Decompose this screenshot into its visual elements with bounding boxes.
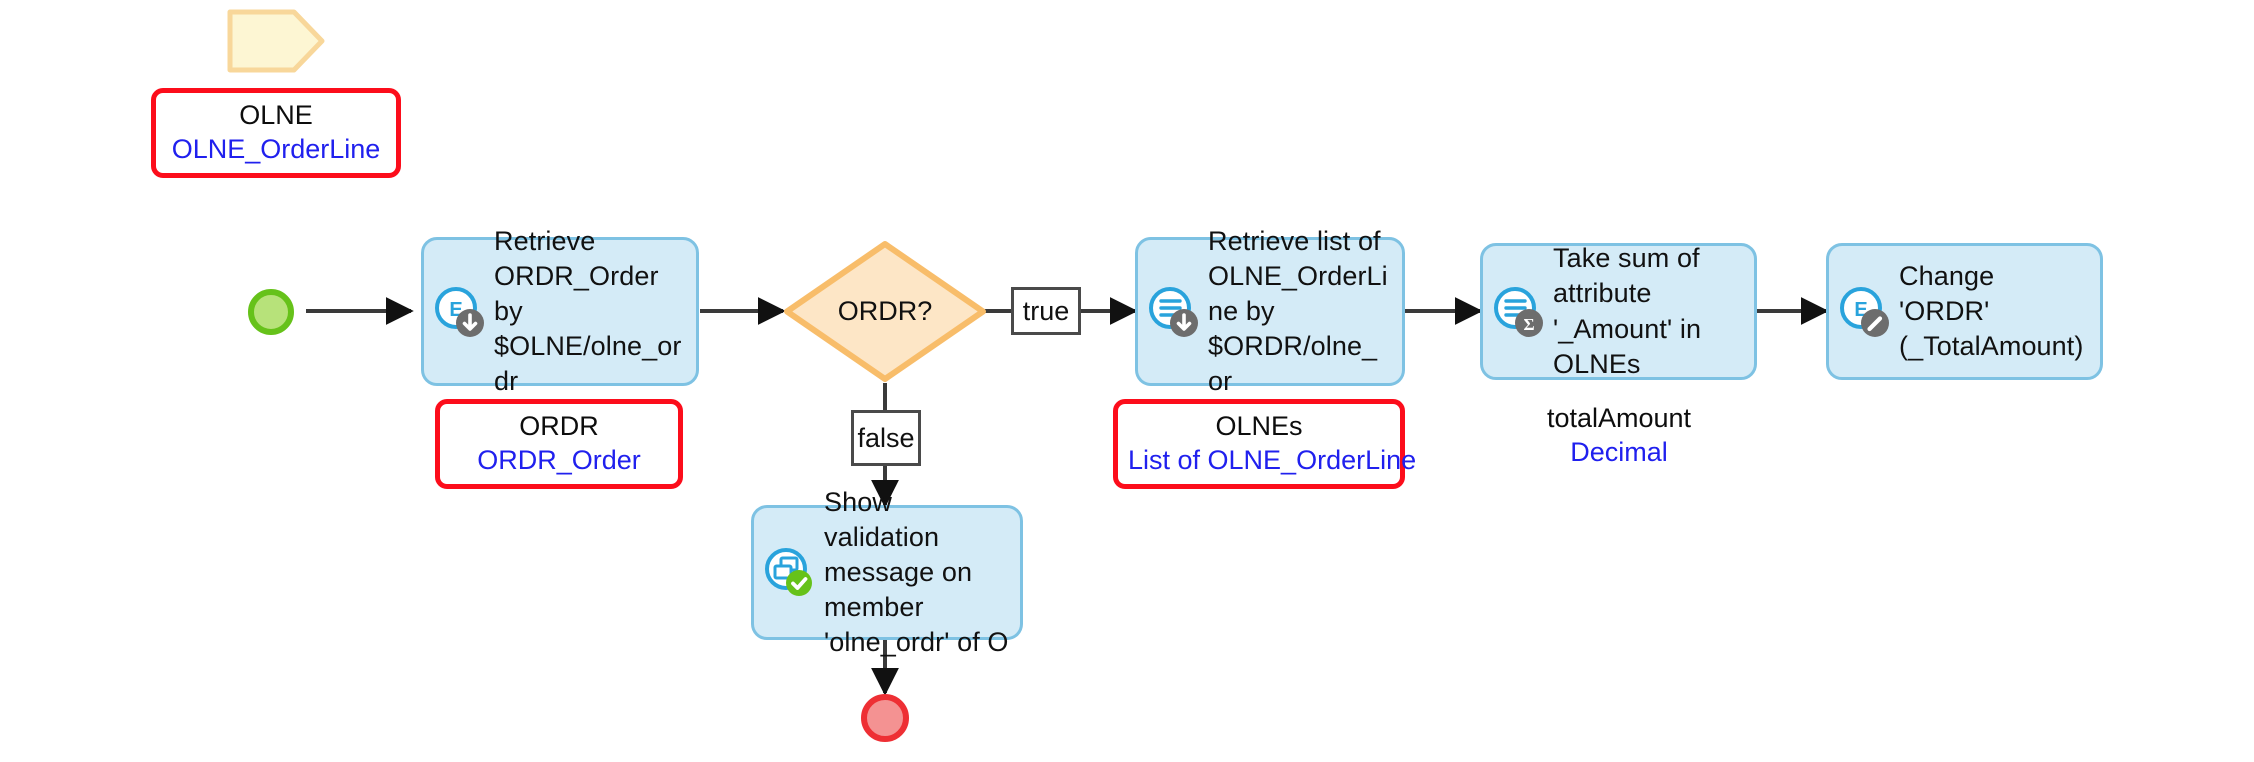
activity-caption: Show validation message on member 'olne_… bbox=[822, 485, 1010, 660]
flow-label-false[interactable]: false bbox=[851, 410, 921, 466]
activity-caption: Retrieve ORDR_Order by $OLNE/olne_ordr bbox=[492, 224, 686, 399]
output-variable-type: Decimal bbox=[1500, 436, 1738, 470]
microflow-canvas[interactable]: OLNE OLNE_OrderLine E Retrieve ORDR_Orde… bbox=[0, 0, 2254, 762]
activity-output-olnes[interactable]: OLNEs List of OLNE_OrderLine bbox=[1113, 399, 1405, 489]
retrieve-entity-icon: E bbox=[432, 284, 488, 340]
activity-retrieve-list-olne[interactable]: Retrieve list of OLNE_OrderLine by $ORDR… bbox=[1135, 237, 1405, 386]
activity-caption: Take sum of attribute '_Amount' in OLNEs bbox=[1551, 241, 1744, 381]
change-entity-icon: E bbox=[1837, 284, 1893, 340]
parameter-variable-box[interactable]: OLNE OLNE_OrderLine bbox=[151, 88, 401, 178]
output-variable-name: totalAmount bbox=[1500, 402, 1738, 436]
output-variable-type: List of OLNE_OrderLine bbox=[1128, 444, 1390, 478]
activity-output-total-amount[interactable]: totalAmount Decimal bbox=[1490, 396, 1748, 476]
end-event[interactable] bbox=[861, 694, 909, 742]
output-variable-name: ORDR bbox=[450, 410, 668, 444]
start-event[interactable] bbox=[248, 289, 294, 335]
activity-show-validation[interactable]: Show validation message on member 'olne_… bbox=[751, 505, 1023, 640]
decision-label: ORDR? bbox=[783, 240, 987, 383]
parameter-variable-name: OLNE bbox=[166, 99, 386, 133]
parameter-variable-type: OLNE_OrderLine bbox=[166, 133, 386, 167]
activity-aggregate-sum[interactable]: Σ Take sum of attribute '_Amount' in OLN… bbox=[1480, 243, 1757, 380]
aggregate-list-icon: Σ bbox=[1491, 284, 1547, 340]
activity-change-ordr[interactable]: E Change 'ORDR' (_TotalAmount) bbox=[1826, 243, 2103, 380]
parameter-pentagon[interactable] bbox=[224, 6, 328, 76]
validation-message-icon bbox=[762, 545, 818, 601]
activity-caption: Retrieve list of OLNE_OrderLine by $ORDR… bbox=[1206, 224, 1392, 399]
decision-ordr[interactable]: ORDR? bbox=[783, 240, 987, 383]
activity-retrieve-ordr[interactable]: E Retrieve ORDR_Order by $OLNE/olne_ordr bbox=[421, 237, 699, 386]
flow-label-false-text: false bbox=[857, 425, 914, 452]
activity-output-ordr[interactable]: ORDR ORDR_Order bbox=[435, 399, 683, 489]
retrieve-list-icon bbox=[1146, 284, 1202, 340]
parameter-pentagon-icon bbox=[224, 6, 328, 76]
output-variable-name: OLNEs bbox=[1128, 410, 1390, 444]
activity-caption: Change 'ORDR' (_TotalAmount) bbox=[1897, 259, 2090, 364]
svg-text:Σ: Σ bbox=[1523, 315, 1534, 334]
flow-label-true-text: true bbox=[1023, 298, 1070, 325]
output-variable-type: ORDR_Order bbox=[450, 444, 668, 478]
flow-label-true[interactable]: true bbox=[1011, 287, 1081, 335]
